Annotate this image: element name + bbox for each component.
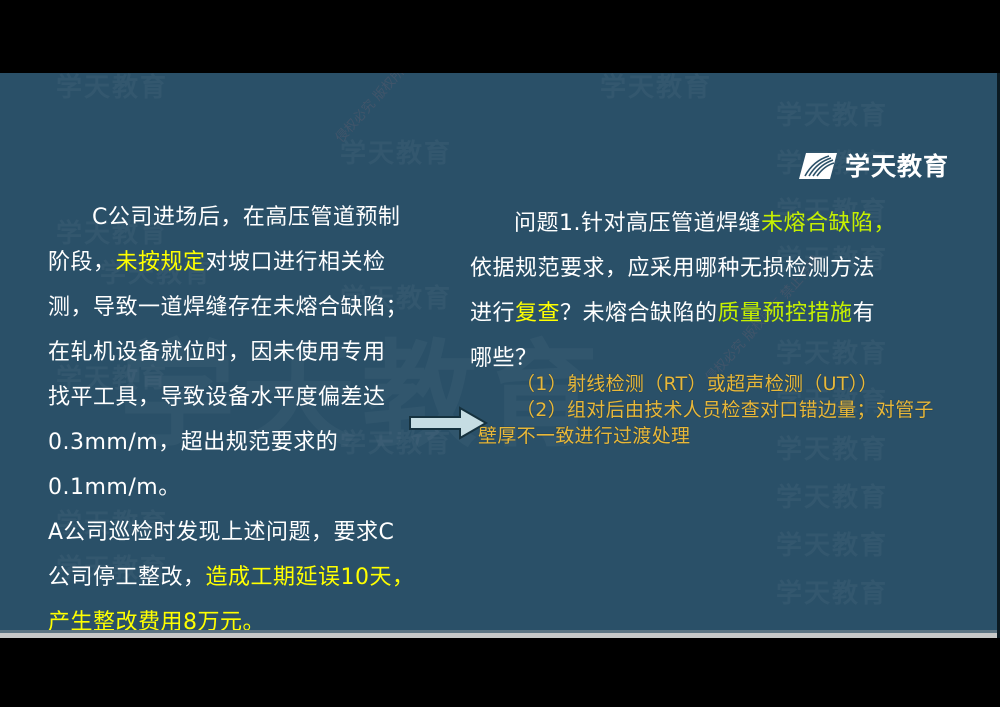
watermark-text: 学天教育 xyxy=(776,95,888,132)
watermark-diagonal: 侵权必究 版权所有 禁止传播 xyxy=(330,73,454,146)
answer-text: （1）射线检测（RT）或超声检测（UT））（2）组对后由技术人员检查对口错边量；… xyxy=(478,371,948,449)
letterbox-bar-bottom xyxy=(0,638,1000,707)
text-line: 产生整改费用8万元。 xyxy=(48,600,458,633)
watermark-text: 学天教育 xyxy=(600,73,712,104)
highlighted-text-run: 未按规定 xyxy=(116,250,206,275)
slide-content: 学天教育 学天教育 学天教育 学天教育 学天教育 学天教育 学天教育 学天教育 … xyxy=(0,73,997,633)
text-run: 0.3mm/m，超出规范要求的0.1mm/m。 xyxy=(48,430,338,500)
xuetian-stripes-logo-icon xyxy=(799,153,837,179)
text-run: 进行 xyxy=(470,301,515,326)
highlighted-text-run: 质量预控措施 xyxy=(718,301,853,326)
text-run: 问题1.针对高压管道焊缝 xyxy=(514,211,761,236)
case-description-text: C公司进场后，在高压管道预制阶段，未按规定对坡口进行相关检测，导致一道焊缝存在未… xyxy=(48,195,458,633)
text-run: 找平工具，导致设备水平度偏差达 xyxy=(48,385,386,410)
text-run: C公司进场后，在高压管道预制 xyxy=(92,205,400,230)
text-run: 有 xyxy=(853,301,876,326)
video-frame: 学天教育 学天教育 学天教育 学天教育 学天教育 学天教育 学天教育 学天教育 … xyxy=(0,0,1000,707)
watermark-text: 学天教育 xyxy=(56,73,168,104)
text-run: ？未熔合缺陷的 xyxy=(560,301,718,326)
highlighted-text-run: 复查 xyxy=(515,301,560,326)
text-run: A公司巡检时发现上述问题，要求C xyxy=(48,520,394,545)
watermark-text: 学天教育 xyxy=(776,525,888,562)
highlighted-text-run: 造成工期延误10天， xyxy=(206,565,415,590)
text-line: 0.3mm/m，超出规范要求的0.1mm/m。 xyxy=(48,420,458,510)
text-line: 问题1.针对高压管道焊缝未熔合缺陷， xyxy=(470,201,940,246)
text-run: 依据规范要求，应采用哪种无损检测方法 xyxy=(470,256,875,281)
brand-logo: 学天教育 xyxy=(799,153,949,179)
text-line: 依据规范要求，应采用哪种无损检测方法 xyxy=(470,246,940,291)
letterbox-bar-top xyxy=(0,0,1000,73)
text-line: C公司进场后，在高压管道预制 xyxy=(48,195,458,240)
text-run: 在轧机设备就位时，因未使用专用 xyxy=(48,340,386,365)
highlighted-text-run: 未熔合缺陷， xyxy=(761,211,896,236)
text-run: 测，导致一道焊缝存在未熔合缺陷； xyxy=(48,295,408,320)
text-run: 对坡口进行相关检 xyxy=(206,250,386,275)
text-run: 阶段， xyxy=(48,250,116,275)
right-arrow-icon xyxy=(408,405,488,441)
text-line: 测，导致一道焊缝存在未熔合缺陷； xyxy=(48,285,458,330)
text-run: 哪些？ xyxy=(470,346,538,371)
watermark-text: 学天教育 xyxy=(340,133,452,170)
watermark-text: 学天教育 xyxy=(776,477,888,514)
question-text: 问题1.针对高压管道焊缝未熔合缺陷，依据规范要求，应采用哪种无损检测方法进行复查… xyxy=(470,201,940,381)
brand-logo-text: 学天教育 xyxy=(845,154,949,179)
text-line: 在轧机设备就位时，因未使用专用 xyxy=(48,330,458,375)
text-line: 公司停工整改，造成工期延误10天， xyxy=(48,555,458,600)
text-run: 公司停工整改， xyxy=(48,565,206,590)
text-line: A公司巡检时发现上述问题，要求C xyxy=(48,510,458,555)
answer-item: （2）组对后由技术人员检查对口错边量；对管子壁厚不一致进行过渡处理 xyxy=(478,397,948,449)
text-line: 进行复查？未熔合缺陷的质量预控措施有 xyxy=(470,291,940,336)
answer-item: （1）射线检测（RT）或超声检测（UT）） xyxy=(478,371,948,397)
watermark-text: 学天教育 xyxy=(776,573,888,610)
text-line: 阶段，未按规定对坡口进行相关检 xyxy=(48,240,458,285)
text-line: 找平工具，导致设备水平度偏差达 xyxy=(48,375,458,420)
